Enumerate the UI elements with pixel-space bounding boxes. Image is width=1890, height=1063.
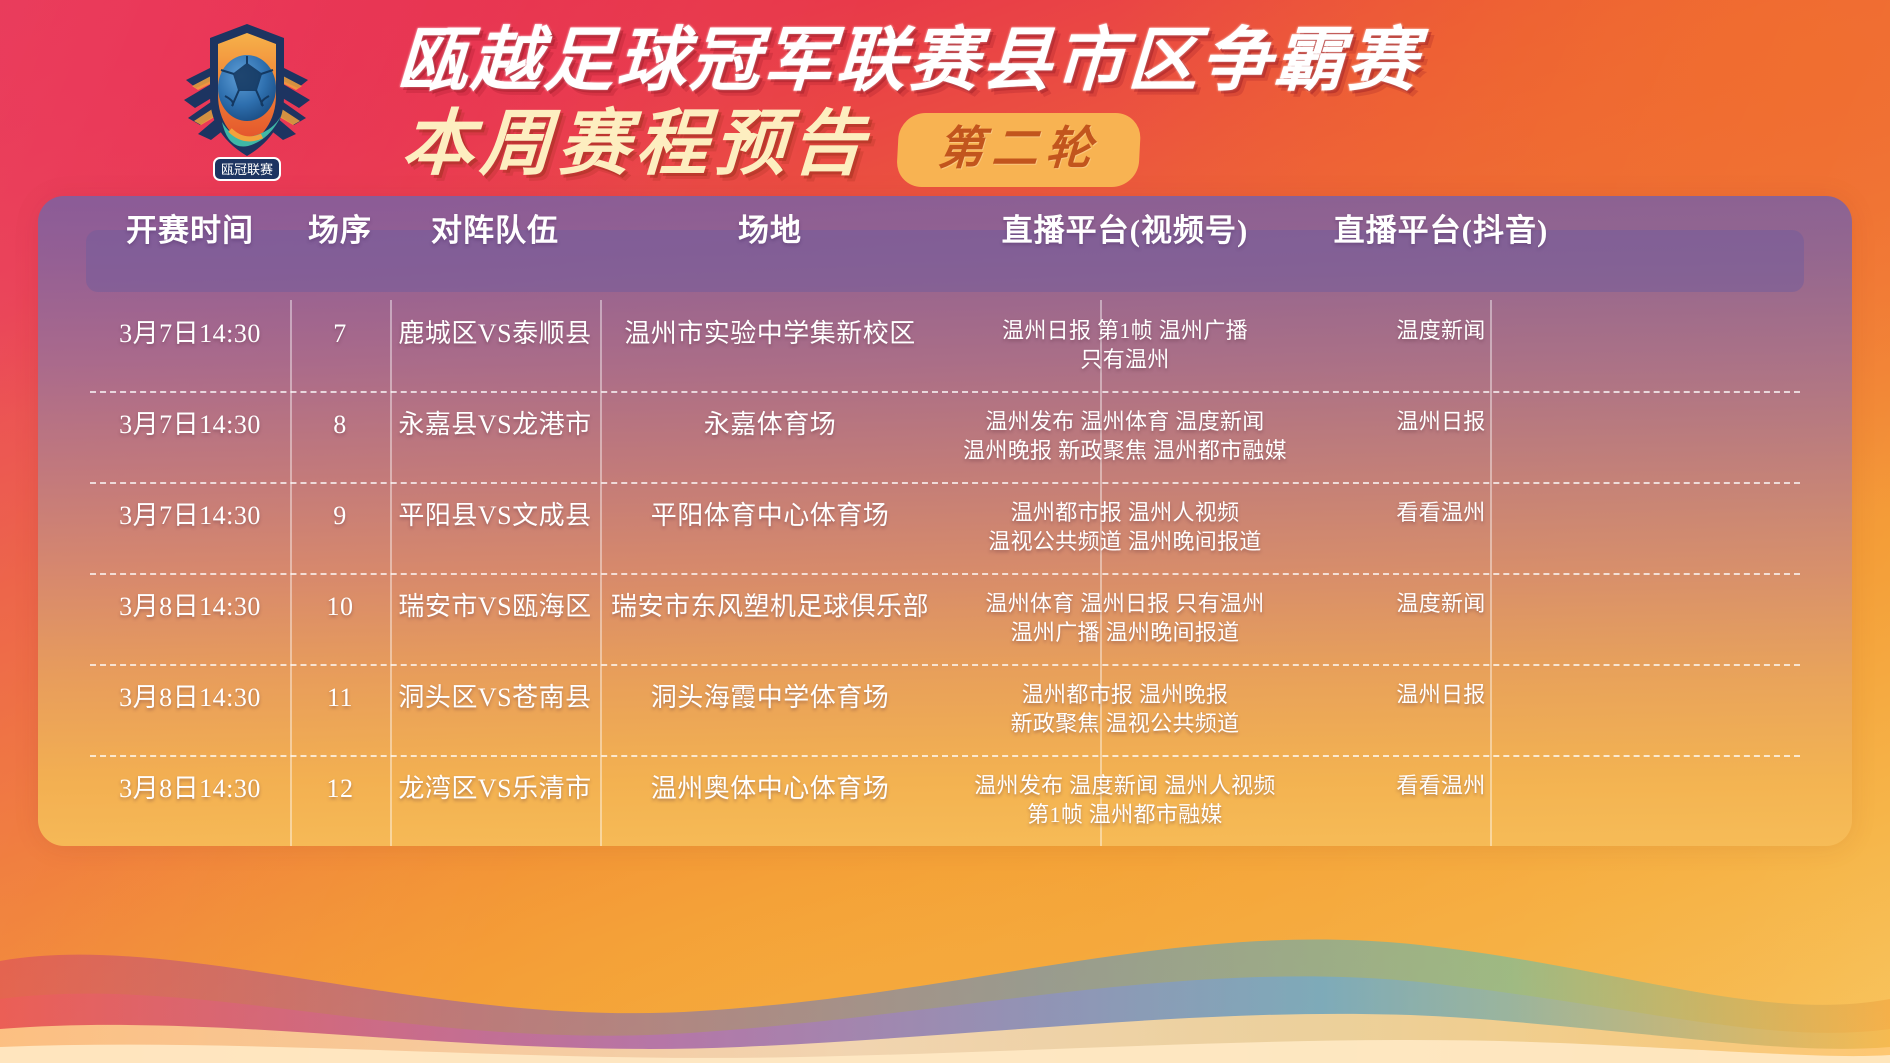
cell-order: 9	[290, 499, 390, 556]
column-header-match: 对阵队伍	[390, 205, 600, 250]
cell-live-wechat: 温州发布 温州体育 温度新闻温州晚报 新政聚焦 温州都市融媒	[940, 408, 1310, 465]
cell-time: 3月7日14:30	[90, 499, 290, 556]
cell-order: 8	[290, 408, 390, 465]
cell-venue: 瑞安市东风塑机足球俱乐部	[600, 590, 940, 647]
column-header-live-wechat: 直播平台(视频号)	[940, 205, 1310, 250]
cell-live-douyin: 看看温州	[1310, 499, 1572, 556]
table-body: 3月7日14:30 7 鹿城区VS泰顺县 温州市实验中学集新校区 温州日报 第1…	[38, 300, 1852, 846]
cell-live-douyin: 温度新闻	[1310, 590, 1572, 647]
poster-header: 瓯冠联赛 瓯越足球冠军联赛县市区争霸赛 本周赛程预告 第二轮	[0, 0, 1890, 210]
cell-match: 龙湾区VS乐清市	[390, 772, 600, 829]
round-badge: 第二轮	[896, 113, 1142, 187]
cell-match: 鹿城区VS泰顺县	[390, 317, 600, 374]
cell-live-wechat: 温州日报 第1帧 温州广播只有温州	[940, 317, 1310, 374]
cell-order: 11	[290, 681, 390, 738]
table-row: 3月7日14:30 8 永嘉县VS龙港市 永嘉体育场 温州发布 温州体育 温度新…	[38, 391, 1852, 482]
page-title-sub: 本周赛程预告	[400, 108, 872, 180]
cell-venue: 洞头海霞中学体育场	[600, 681, 940, 738]
cell-time: 3月7日14:30	[90, 317, 290, 374]
cell-live-douyin: 温度新闻	[1310, 317, 1572, 374]
cell-live-wechat: 温州发布 温度新闻 温州人视频第1帧 温州都市融媒	[940, 772, 1310, 829]
cell-live-douyin: 温州日报	[1310, 681, 1572, 738]
table-row: 3月8日14:30 11 洞头区VS苍南县 洞头海霞中学体育场 温州都市报 温州…	[38, 664, 1852, 755]
cell-live-douyin: 温州日报	[1310, 408, 1572, 465]
table-row: 3月7日14:30 7 鹿城区VS泰顺县 温州市实验中学集新校区 温州日报 第1…	[38, 300, 1852, 391]
cell-time: 3月8日14:30	[90, 590, 290, 647]
column-header-venue: 场地	[600, 205, 940, 250]
table-row: 3月8日14:30 10 瑞安市VS瓯海区 瑞安市东风塑机足球俱乐部 温州体育 …	[38, 573, 1852, 664]
schedule-card: 开赛时间 场序 对阵队伍 场地 直播平台(视频号) 直播平台(抖音) 3月7日1…	[38, 196, 1852, 846]
league-crest-logo: 瓯冠联赛	[178, 18, 316, 190]
cell-order: 10	[290, 590, 390, 647]
cell-time: 3月7日14:30	[90, 408, 290, 465]
poster-root: 瓯冠联赛 瓯越足球冠军联赛县市区争霸赛 本周赛程预告 第二轮 开赛时间 场序 对…	[0, 0, 1890, 1063]
cell-venue: 温州奥体中心体育场	[600, 772, 940, 829]
cell-venue: 永嘉体育场	[600, 408, 940, 465]
cell-match: 洞头区VS苍南县	[390, 681, 600, 738]
header-titles: 瓯越足球冠军联赛县市区争霸赛 本周赛程预告 第二轮	[398, 24, 1698, 181]
cell-live-wechat: 温州都市报 温州人视频温视公共频道 温州晚间报道	[940, 499, 1310, 556]
cell-time: 3月8日14:30	[90, 772, 290, 829]
table-row: 3月7日14:30 9 平阳县VS文成县 平阳体育中心体育场 温州都市报 温州人…	[38, 482, 1852, 573]
column-header-time: 开赛时间	[90, 205, 290, 250]
cell-match: 瑞安市VS瓯海区	[390, 590, 600, 647]
cell-match: 永嘉县VS龙港市	[390, 408, 600, 465]
subtitle-row: 本周赛程预告 第二轮	[402, 107, 1698, 181]
cell-time: 3月8日14:30	[90, 681, 290, 738]
cell-live-wechat: 温州体育 温州日报 只有温州温州广播 温州晚间报道	[940, 590, 1310, 647]
table-row: 3月8日14:30 12 龙湾区VS乐清市 温州奥体中心体育场 温州发布 温度新…	[38, 755, 1852, 846]
column-header-order: 场序	[290, 205, 390, 250]
cell-live-wechat: 温州都市报 温州晚报新政聚焦 温视公共频道	[940, 681, 1310, 738]
bottom-wave-decoration	[0, 833, 1890, 1063]
column-header-live-douyin: 直播平台(抖音)	[1310, 205, 1572, 250]
crest-ribbon-label: 瓯冠联赛	[221, 162, 273, 177]
cell-live-douyin: 看看温州	[1310, 772, 1572, 829]
cell-match: 平阳县VS文成县	[390, 499, 600, 556]
cell-venue: 温州市实验中学集新校区	[600, 317, 940, 374]
cell-venue: 平阳体育中心体育场	[600, 499, 940, 556]
cell-order: 12	[290, 772, 390, 829]
page-title-main: 瓯越足球冠军联赛县市区争霸赛	[396, 24, 1700, 97]
cell-order: 7	[290, 317, 390, 374]
